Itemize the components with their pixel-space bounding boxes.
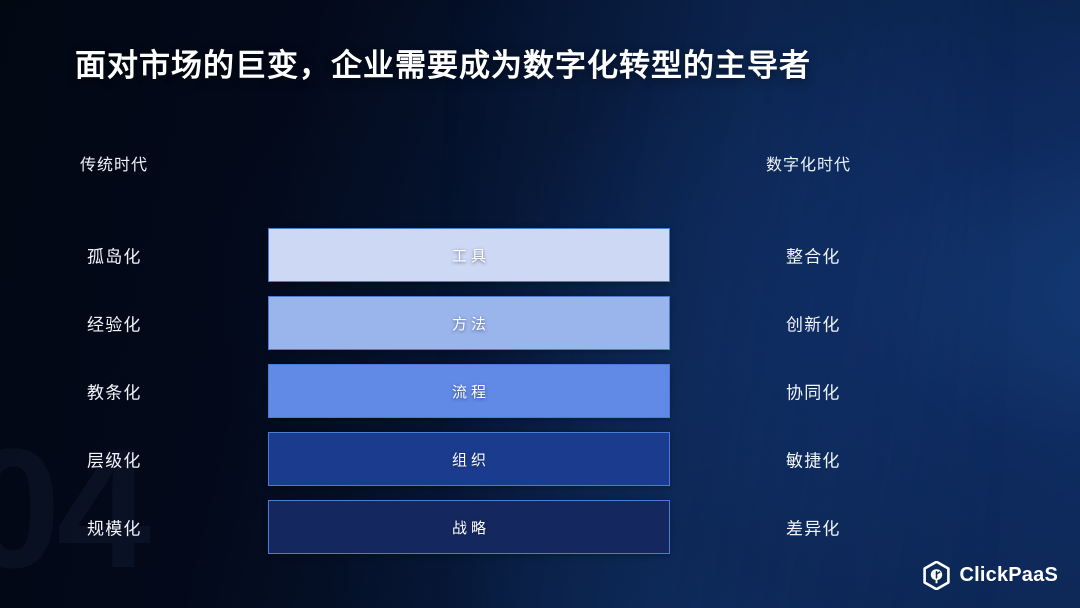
center-bar-label: 组织 — [448, 449, 490, 470]
column-header-digital: 数字化时代 — [766, 151, 851, 175]
matrix-row: 经验化 方法 创新化 — [0, 296, 1080, 350]
center-bar-label: 方法 — [448, 313, 490, 334]
center-bar-strategy[interactable]: 战略 — [268, 500, 670, 554]
row-left-label: 教条化 — [87, 379, 142, 404]
row-left-label: 经验化 — [87, 311, 142, 336]
matrix-row: 孤岛化 工具 整合化 — [0, 228, 1080, 282]
row-right-label: 整合化 — [786, 243, 841, 268]
column-header-traditional: 传统时代 — [80, 151, 148, 175]
row-left-label: 规模化 — [87, 515, 142, 540]
brand-name: ClickPaaS — [959, 564, 1058, 587]
row-right-label: 差异化 — [786, 515, 841, 540]
matrix-row: 教条化 流程 协同化 — [0, 364, 1080, 418]
row-right-label: 敏捷化 — [786, 447, 841, 472]
brand-logo: ClickPaaS — [923, 561, 1058, 590]
hexagon-logo-icon — [923, 561, 950, 590]
row-left-label: 孤岛化 — [87, 243, 142, 268]
center-bar-label: 工具 — [448, 245, 490, 266]
center-bar-organization[interactable]: 组织 — [268, 432, 670, 486]
matrix-row: 规模化 战略 差异化 — [0, 500, 1080, 554]
center-bar-process[interactable]: 流程 — [268, 364, 670, 418]
center-bar-tool[interactable]: 工具 — [268, 228, 670, 282]
comparison-matrix: 孤岛化 工具 整合化 经验化 方法 创新化 教条化 流程 协同化 层级化 组织 — [0, 228, 1080, 554]
center-bar-method[interactable]: 方法 — [268, 296, 670, 350]
row-right-label: 协同化 — [786, 379, 841, 404]
center-bar-label: 战略 — [448, 517, 490, 538]
center-bar-label: 流程 — [448, 381, 490, 402]
page-title: 面对市场的巨变，企业需要成为数字化转型的主导者 — [75, 40, 811, 85]
slide-canvas: 04 面对市场的巨变，企业需要成为数字化转型的主导者 传统时代 数字化时代 孤岛… — [0, 0, 1080, 608]
row-right-label: 创新化 — [786, 311, 841, 336]
row-left-label: 层级化 — [87, 447, 142, 472]
matrix-row: 层级化 组织 敏捷化 — [0, 432, 1080, 486]
